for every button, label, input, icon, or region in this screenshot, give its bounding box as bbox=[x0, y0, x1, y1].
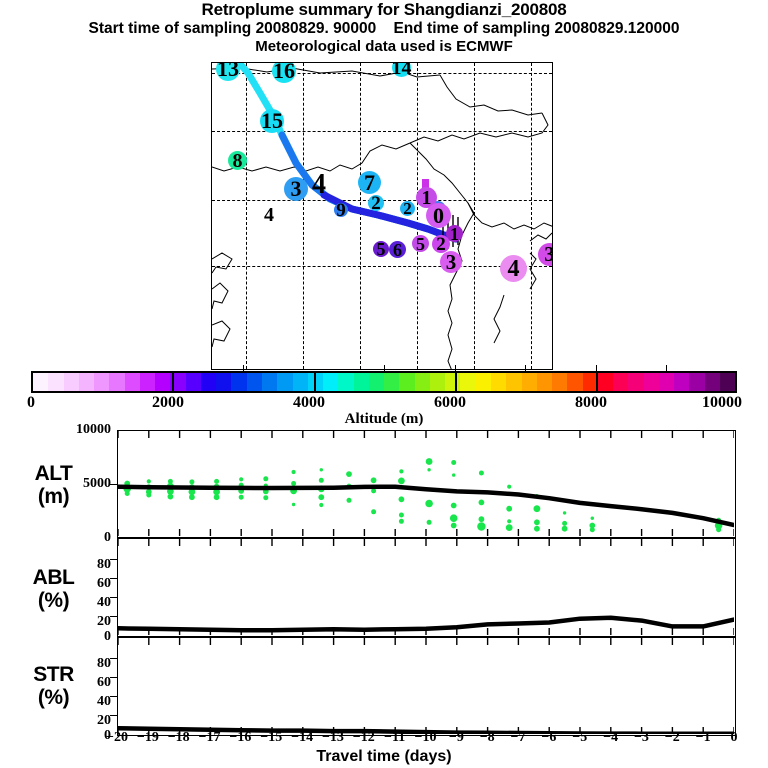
map-marker[interactable]: 3 bbox=[284, 177, 308, 201]
alt-scatter-point bbox=[146, 493, 151, 498]
alt-scatter-point bbox=[562, 521, 567, 526]
colorbar-label-10000: 10000 bbox=[702, 394, 742, 412]
colorbar-tick bbox=[596, 365, 597, 371]
str-plot-svg bbox=[118, 638, 734, 734]
map-marker[interactable]: 3 bbox=[440, 251, 462, 273]
colorbar-segment bbox=[262, 373, 277, 391]
str-ytick-mark bbox=[110, 696, 118, 697]
colorbar-label-8000: 8000 bbox=[575, 394, 607, 412]
sampling-time-line: Start time of sampling 20080829. 90000 E… bbox=[0, 20, 768, 38]
alt-scatter-point bbox=[506, 524, 513, 531]
alt-scatter-point bbox=[507, 519, 511, 523]
colorbar-segment bbox=[231, 373, 246, 391]
colorbar-segment bbox=[430, 373, 445, 391]
str-plot-panel[interactable] bbox=[117, 637, 736, 736]
colorbar-divider bbox=[172, 371, 174, 393]
map-marker[interactable]: 15 bbox=[260, 109, 284, 133]
met-data-line: Meteorological data used is ECMWF bbox=[0, 38, 768, 56]
alt-scatter-point bbox=[399, 469, 403, 473]
alt-scatter-point bbox=[534, 519, 540, 525]
alt-scatter-point bbox=[292, 470, 296, 474]
str-ytick-80: 80 bbox=[49, 657, 111, 671]
colorbar-segment bbox=[445, 373, 460, 391]
colorbar-segment bbox=[598, 373, 613, 391]
colorbar-divider bbox=[455, 371, 457, 393]
alt-scatter-point bbox=[507, 485, 511, 489]
colorbar-segment bbox=[79, 373, 94, 391]
str-ytick-40: 40 bbox=[49, 695, 111, 709]
abl-ytick-40: 40 bbox=[49, 596, 111, 610]
colorbar-segment bbox=[354, 373, 369, 391]
map-marker[interactable]: 13 bbox=[216, 62, 240, 81]
abl-ytick-mark bbox=[110, 559, 118, 560]
abl-ytick-80: 80 bbox=[49, 558, 111, 572]
colorbar-title: Altitude (m) bbox=[0, 411, 768, 428]
colorbar-divider bbox=[596, 371, 598, 393]
alt-plot-panel[interactable] bbox=[117, 430, 736, 538]
alt-scatter-point bbox=[452, 473, 455, 476]
alt-scatter-point bbox=[214, 479, 219, 484]
colorbar-tick bbox=[525, 365, 526, 371]
alt-ytick-10000: 10000 bbox=[49, 423, 111, 437]
alt-scatter-point bbox=[347, 498, 352, 503]
colorbar-segment bbox=[201, 373, 216, 391]
alt-scatter-point bbox=[371, 477, 377, 483]
alt-scatter-point bbox=[239, 477, 243, 481]
colorbar-segment bbox=[125, 373, 140, 391]
map-marker[interactable]: 5 bbox=[373, 241, 389, 257]
alt-scatter-point bbox=[263, 495, 268, 500]
colorbar-segment bbox=[460, 373, 475, 391]
abl-ytick-20: 20 bbox=[49, 615, 111, 629]
colorbar-segment bbox=[613, 373, 628, 391]
map-marker-label: 4 bbox=[312, 171, 326, 199]
colorbar-segment bbox=[94, 373, 109, 391]
alt-scatter-point bbox=[319, 478, 324, 483]
colorbar-segment bbox=[64, 373, 79, 391]
colorbar-segment bbox=[705, 373, 720, 391]
map-marker[interactable]: 0 bbox=[426, 203, 451, 228]
colorbar-segment bbox=[659, 373, 674, 391]
abl-ytick-0: 0 bbox=[49, 630, 111, 644]
alt-scatter-point bbox=[147, 479, 151, 483]
map-marker[interactable]: 7 bbox=[358, 171, 381, 194]
colorbar-label-4000: 4000 bbox=[293, 394, 325, 412]
alt-scatter-point bbox=[716, 527, 721, 532]
colorbar-segment bbox=[186, 373, 201, 391]
x-axis-tick-label: 0 bbox=[714, 730, 754, 746]
alt-scatter-point bbox=[318, 494, 324, 500]
alt-scatter-point bbox=[320, 468, 323, 471]
colorbar-segment bbox=[537, 373, 552, 391]
abl-ytick-mark bbox=[110, 597, 118, 598]
map-marker[interactable]: 6 bbox=[389, 241, 406, 258]
alt-scatter-point bbox=[479, 500, 485, 506]
alt-scatter-point bbox=[168, 494, 174, 500]
alt-scatter-point bbox=[399, 496, 405, 502]
colorbar-segment bbox=[48, 373, 63, 391]
alt-scatter-point bbox=[427, 520, 432, 525]
alt-scatter-point bbox=[189, 494, 195, 500]
map-marker[interactable]: 5 bbox=[412, 235, 429, 252]
colorbar-tick bbox=[666, 365, 667, 371]
alt-ytick-mark bbox=[110, 484, 118, 485]
abl-ytick-60: 60 bbox=[49, 577, 111, 591]
str-ytick-60: 60 bbox=[49, 676, 111, 690]
colorbar-segment bbox=[476, 373, 491, 391]
alt-scatter-point bbox=[214, 494, 220, 500]
colorbar-segment bbox=[369, 373, 384, 391]
alt-scatter-point bbox=[189, 479, 194, 484]
alt-scatter-point bbox=[451, 523, 457, 529]
alt-scatter-point bbox=[398, 478, 405, 485]
colorbar-segment bbox=[720, 373, 735, 391]
colorbar-segment bbox=[155, 373, 170, 391]
map-marker[interactable]: 14 bbox=[392, 62, 411, 77]
alt-scatter-point bbox=[263, 476, 268, 481]
alt-scatter-point bbox=[506, 506, 512, 512]
map-marker[interactable]: 4 bbox=[500, 255, 527, 282]
alt-ytick-5000: 5000 bbox=[49, 477, 111, 491]
alt-scatter-point bbox=[534, 505, 541, 512]
title-block: Retroplume summary for Shangdianzi_20080… bbox=[0, 0, 768, 56]
colorbar-segment bbox=[674, 373, 689, 391]
colorbar-segment bbox=[415, 373, 430, 391]
colorbar-segment bbox=[491, 373, 506, 391]
str-ytick-mark bbox=[110, 715, 118, 716]
map-marker[interactable]: 8 bbox=[228, 151, 247, 170]
colorbar-segment bbox=[522, 373, 537, 391]
colorbar-segment bbox=[323, 373, 338, 391]
colorbar-segment bbox=[644, 373, 659, 391]
alt-scatter-point bbox=[477, 522, 485, 530]
colorbar-segment bbox=[293, 373, 308, 391]
alt-scatter-point bbox=[562, 526, 568, 532]
alt-scatter-point bbox=[291, 481, 296, 486]
alt-scatter-point bbox=[451, 503, 457, 509]
alt-scatter-point bbox=[292, 503, 295, 506]
abl-ytick-mark bbox=[110, 616, 118, 617]
str-ytick-20: 20 bbox=[49, 714, 111, 728]
alt-scatter-point bbox=[534, 526, 540, 532]
map-marker[interactable]: 2 bbox=[400, 201, 415, 216]
colorbar-divider bbox=[314, 371, 316, 393]
map-marker[interactable]: 9 bbox=[334, 203, 348, 217]
colorbar-segment bbox=[277, 373, 292, 391]
alt-scatter-point bbox=[591, 517, 594, 520]
alt-scatter-point bbox=[479, 471, 484, 476]
colorbar-label-0: 0 bbox=[27, 394, 35, 412]
str-ytick-mark bbox=[110, 677, 118, 678]
colorbar-segment bbox=[216, 373, 231, 391]
alt-scatter-point bbox=[451, 460, 456, 465]
abl-plot-svg bbox=[118, 539, 734, 635]
alt-scatter-point bbox=[371, 488, 376, 493]
colorbar-segment bbox=[689, 373, 704, 391]
colorbar-segment bbox=[628, 373, 643, 391]
page-title: Retroplume summary for Shangdianzi_20080… bbox=[0, 0, 768, 20]
alt-scatter-point bbox=[346, 471, 352, 477]
altitude-colorbar[interactable] bbox=[31, 371, 737, 393]
colorbar-segment bbox=[567, 373, 582, 391]
colorbar-label-2000: 2000 bbox=[152, 394, 184, 412]
colorbar-segment bbox=[33, 373, 48, 391]
x-axis-title: Travel time (days) bbox=[0, 748, 768, 766]
colorbar-label-6000: 6000 bbox=[434, 394, 466, 412]
alt-ytick-0: 0 bbox=[49, 531, 111, 545]
alt-scatter-point bbox=[399, 513, 404, 518]
colorbar-tick bbox=[243, 365, 244, 371]
alt-scatter-point bbox=[590, 527, 595, 532]
colorbar-segment bbox=[384, 373, 399, 391]
alt-scatter-point bbox=[371, 509, 376, 514]
colorbar-segment bbox=[247, 373, 262, 391]
colorbar-tick bbox=[384, 365, 385, 371]
alt-scatter-point bbox=[426, 458, 433, 465]
alt-scatter-point bbox=[450, 514, 458, 522]
map-marker-label: 4 bbox=[264, 205, 274, 225]
alt-scatter-point bbox=[427, 468, 430, 471]
colorbar-segment bbox=[399, 373, 414, 391]
alt-plot-svg bbox=[118, 431, 734, 536]
abl-plot-panel[interactable] bbox=[117, 538, 736, 637]
colorbar-segment bbox=[552, 373, 567, 391]
alt-scatter-point bbox=[319, 503, 323, 507]
map-marker[interactable]: 2 bbox=[368, 195, 384, 211]
map-marker[interactable]: 16 bbox=[272, 62, 296, 83]
str-ytick-mark bbox=[110, 658, 118, 659]
colorbar-segment bbox=[140, 373, 155, 391]
colorbar-segment bbox=[338, 373, 353, 391]
colorbar-segment bbox=[109, 373, 124, 391]
alt-scatter-point bbox=[479, 516, 485, 522]
alt-scatter-point bbox=[239, 495, 244, 500]
alt-scatter-point bbox=[563, 511, 566, 514]
alt-scatter-point bbox=[399, 519, 404, 524]
colorbar-segment bbox=[506, 373, 521, 391]
map-canvas: 13 16 14 15 8 3 4 7 4 9 2 2 3 1 0 1 5 6 … bbox=[212, 63, 552, 369]
alt-scatter-point bbox=[125, 491, 130, 496]
colorbar-tick bbox=[455, 365, 456, 371]
abl-ytick-mark bbox=[110, 578, 118, 579]
alt-scatter-point bbox=[425, 500, 433, 508]
retroplume-map[interactable]: 13 16 14 15 8 3 4 7 4 9 2 2 3 1 0 1 5 6 … bbox=[211, 62, 553, 370]
